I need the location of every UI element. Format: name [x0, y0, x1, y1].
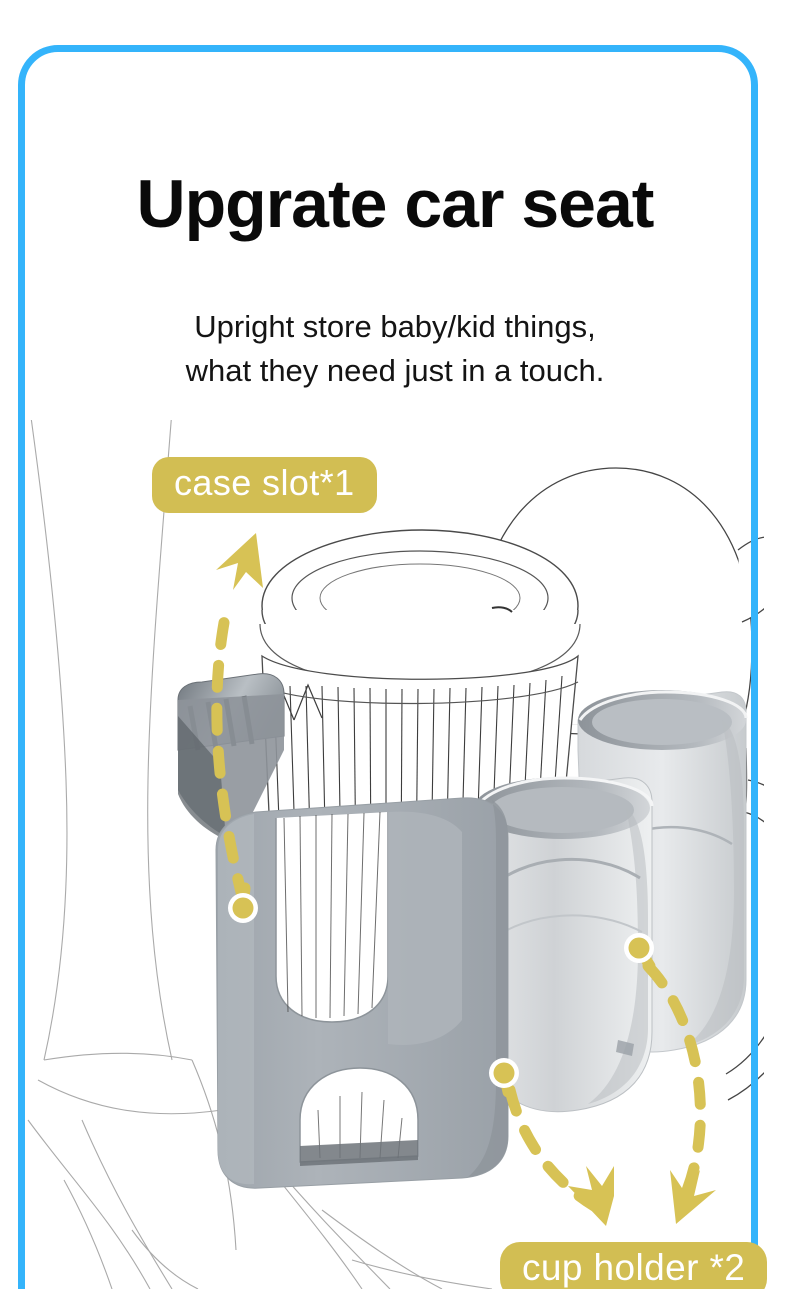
- badge-cup-holder[interactable]: cup holder *2: [500, 1242, 767, 1289]
- page-title: Upgrate car seat: [0, 170, 790, 238]
- product-image: [22, 420, 764, 1289]
- subtitle-line-1: Upright store baby/kid things,: [194, 309, 596, 344]
- product-infographic-page: Upgrate car seat Upright store baby/kid …: [0, 0, 790, 1289]
- subtitle-line-2: what they need just in a touch.: [0, 349, 790, 393]
- badge-case-slot[interactable]: case slot*1: [152, 457, 377, 513]
- page-subtitle: Upright store baby/kid things, what they…: [0, 305, 790, 393]
